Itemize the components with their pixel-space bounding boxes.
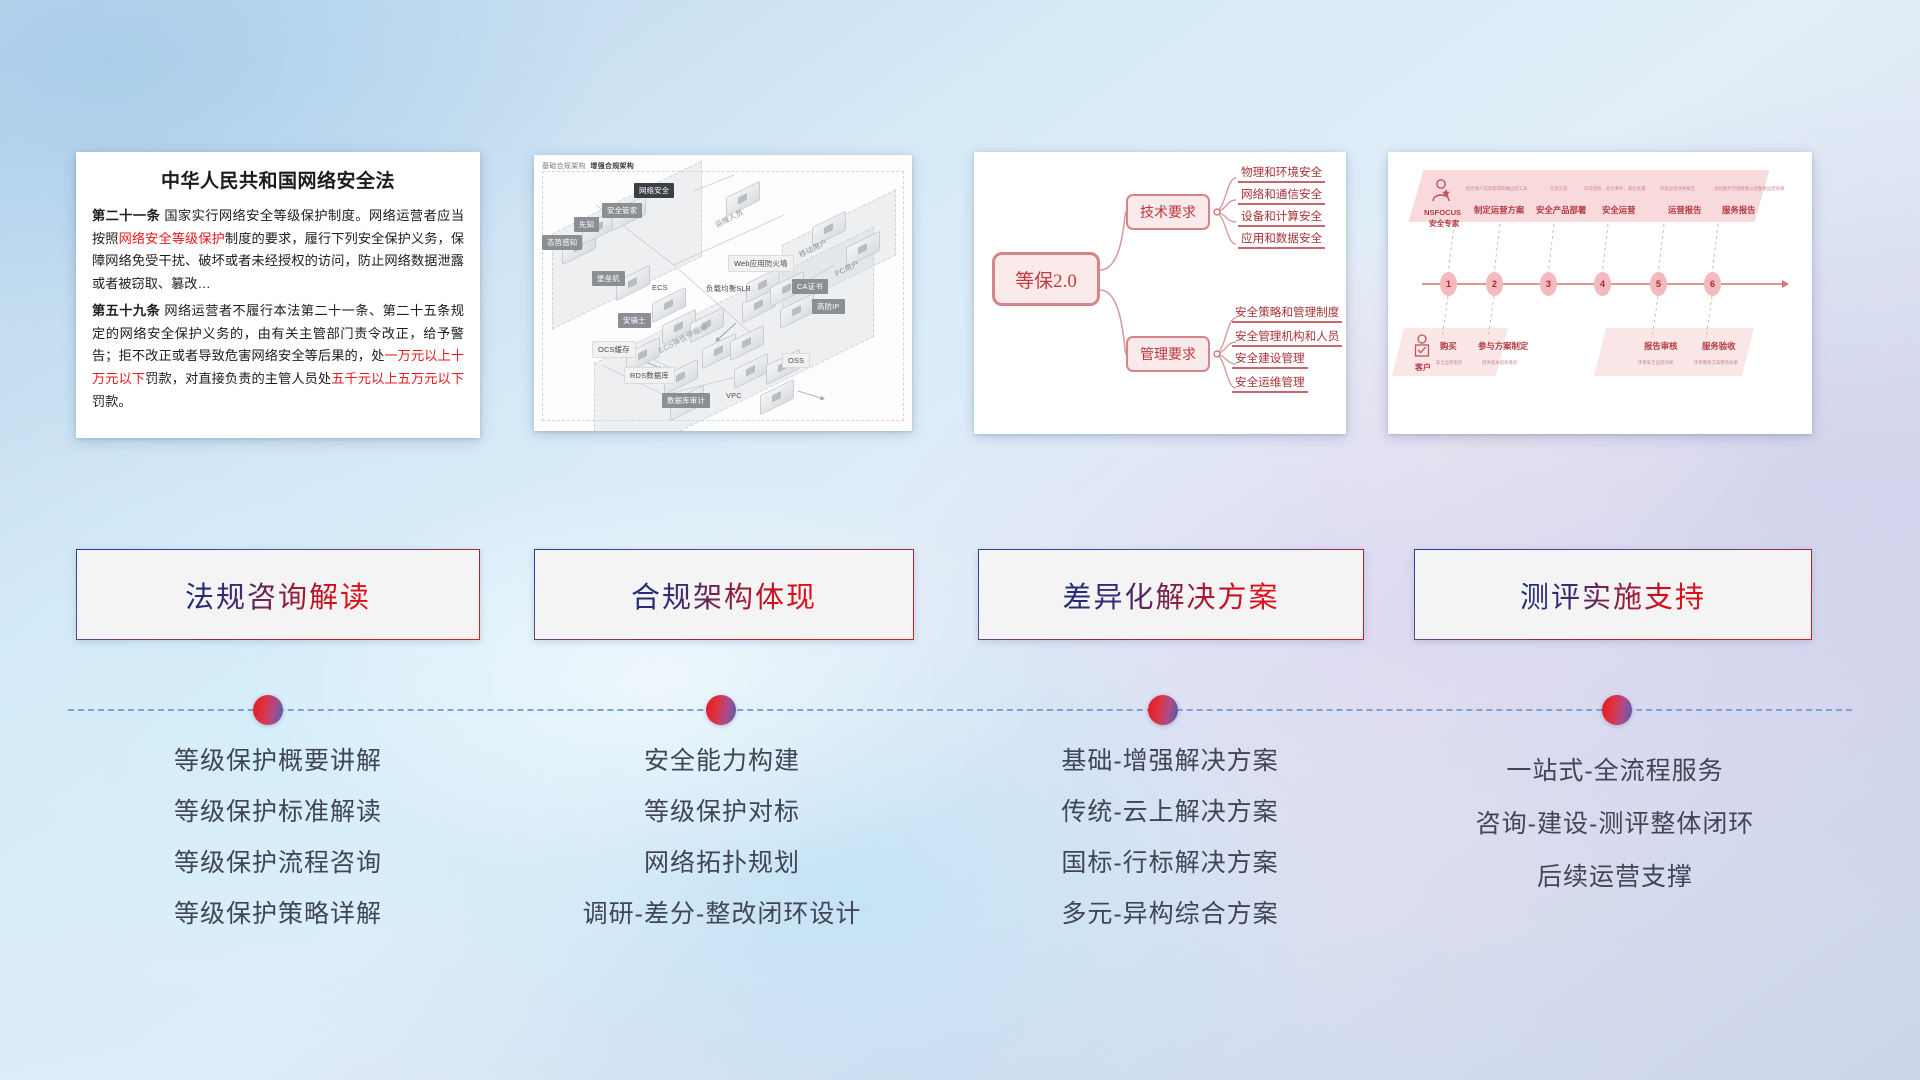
list-item: 传统-云上解决方案 bbox=[962, 787, 1378, 838]
timeline-marker-2[interactable] bbox=[706, 695, 736, 725]
list-item: 等级保护对标 bbox=[520, 787, 924, 838]
section-title-label-2: 合规架构体现 bbox=[631, 574, 817, 616]
section-title-box-1[interactable]: 法规咨询解读 bbox=[76, 549, 480, 640]
timeline-dashed-line bbox=[68, 709, 1852, 711]
section-title-label-3: 差异化解决方案 bbox=[1062, 574, 1279, 616]
section-title-label-4: 测评实施支持 bbox=[1520, 574, 1706, 616]
list-item: 多元-异构综合方案 bbox=[962, 889, 1378, 940]
timeline-marker-4[interactable] bbox=[1602, 695, 1632, 725]
list-item: 等级保护概要讲解 bbox=[76, 736, 480, 787]
section-title-box-3[interactable]: 差异化解决方案 bbox=[978, 549, 1364, 640]
list-item: 后续运营支撑 bbox=[1400, 851, 1830, 904]
list-item: 等级保护标准解读 bbox=[76, 787, 480, 838]
list-item: 国标-行标解决方案 bbox=[962, 838, 1378, 889]
section-item-lists: 等级保护概要讲解 等级保护标准解读 等级保护流程咨询 等级保护策略详解 安全能力… bbox=[0, 736, 1920, 986]
timeline-marker-1[interactable] bbox=[253, 695, 283, 725]
list-item: 网络拓扑规划 bbox=[520, 838, 924, 889]
section-title-box-2[interactable]: 合规架构体现 bbox=[534, 549, 914, 640]
section-title-box-4[interactable]: 测评实施支持 bbox=[1414, 549, 1812, 640]
list-item: 基础-增强解决方案 bbox=[962, 736, 1378, 787]
list-item: 等级保护策略详解 bbox=[76, 889, 480, 940]
list-item: 等级保护流程咨询 bbox=[76, 838, 480, 889]
timeline-axis bbox=[0, 690, 1920, 730]
list-item: 调研-差分-整改闭环设计 bbox=[520, 889, 924, 940]
section-title-label-1: 法规咨询解读 bbox=[185, 574, 371, 616]
list-item: 安全能力构建 bbox=[520, 736, 924, 787]
section-items-1: 等级保护概要讲解 等级保护标准解读 等级保护流程咨询 等级保护策略详解 bbox=[76, 736, 480, 940]
list-item: 咨询-建设-测评整体闭环 bbox=[1400, 798, 1830, 851]
list-item: 一站式-全流程服务 bbox=[1400, 745, 1830, 798]
section-items-4: 一站式-全流程服务 咨询-建设-测评整体闭环 后续运营支撑 bbox=[1400, 745, 1830, 904]
section-items-2: 安全能力构建 等级保护对标 网络拓扑规划 调研-差分-整改闭环设计 bbox=[520, 736, 924, 940]
section-items-3: 基础-增强解决方案 传统-云上解决方案 国标-行标解决方案 多元-异构综合方案 bbox=[962, 736, 1378, 940]
timeline-marker-3[interactable] bbox=[1148, 695, 1178, 725]
